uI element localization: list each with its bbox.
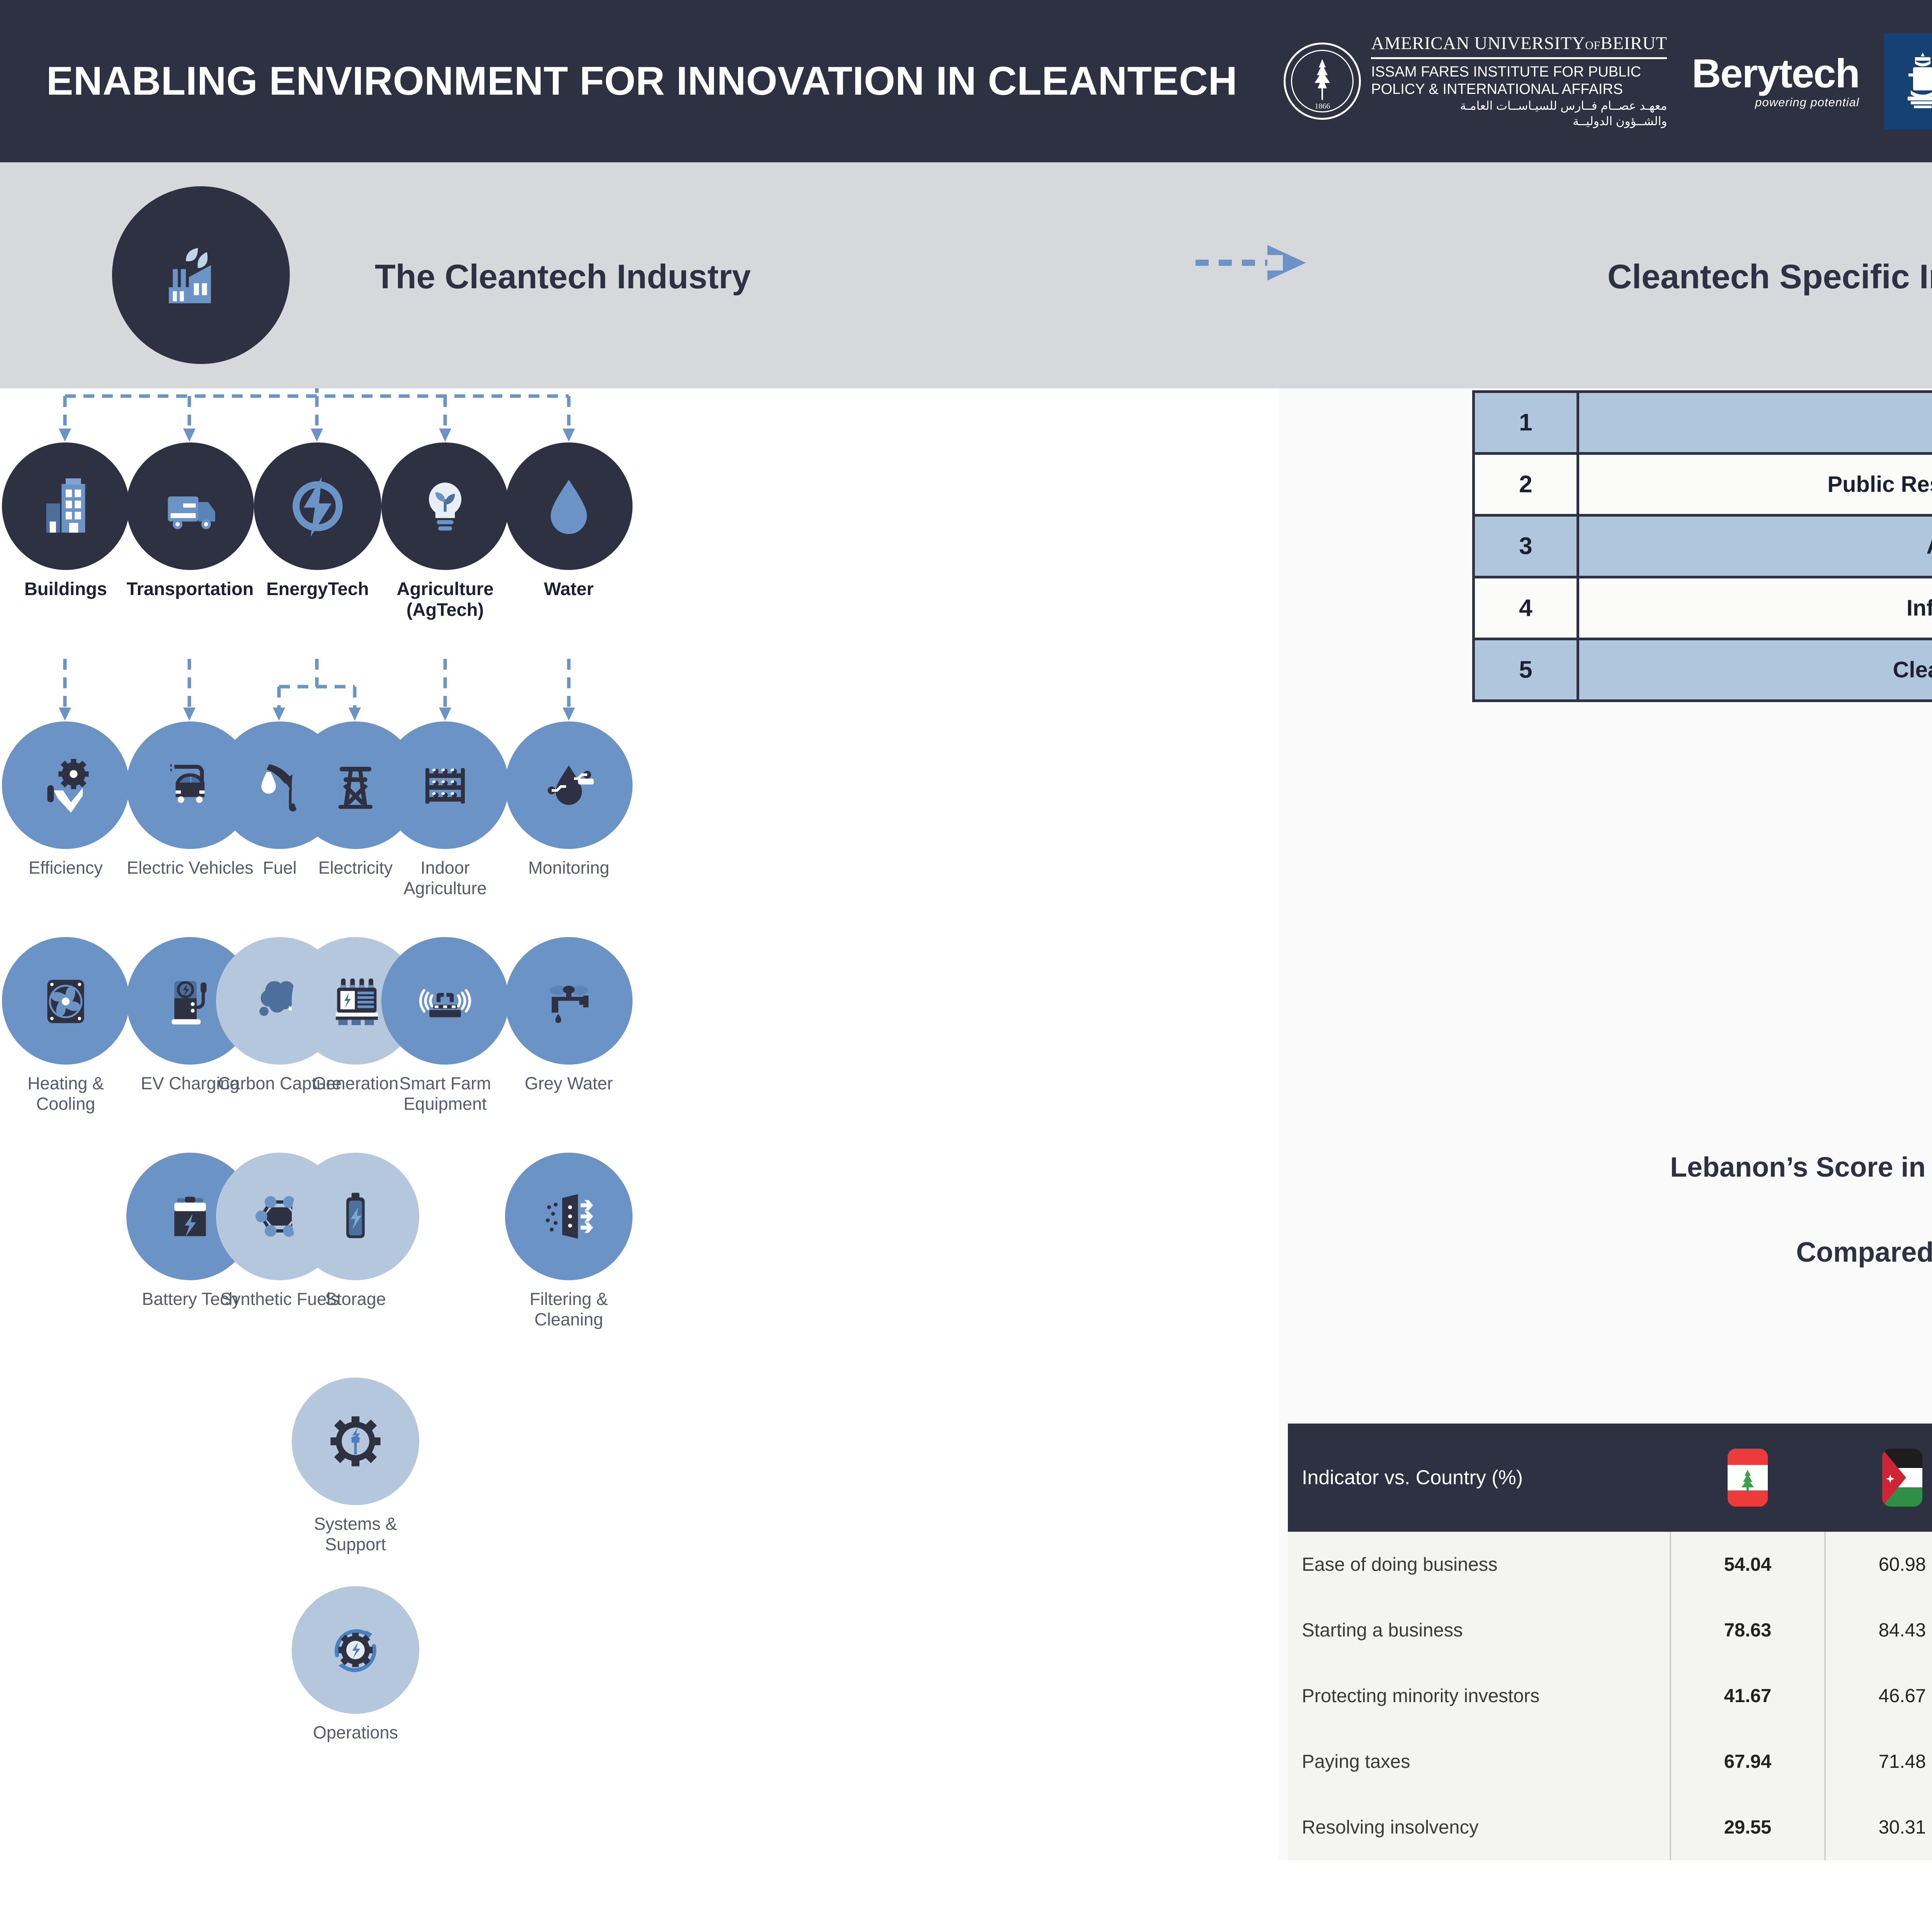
indicator-column-header: Indicator vs. Country (%) [1288, 1424, 1670, 1532]
subitem-heating-cooling[interactable]: Heating & Cooling [0, 937, 131, 1114]
table-row: Starting a business 78.63 84.43 84.11 80… [1288, 1597, 1932, 1663]
aub-name-main: AMERICAN UNIVERSITY [1371, 33, 1585, 53]
filter-icon [505, 1153, 633, 1280]
country-comparison-table-wrap: Indicator vs. Country (%) [1288, 1424, 1932, 1860]
jordan-value: 60.98 [1825, 1532, 1932, 1597]
berytech-tagline: powering potential [1692, 95, 1859, 109]
cleantech-industry-tree: Buildings Transportation EnergyTech [0, 388, 1279, 1917]
category-label: Water [503, 578, 634, 599]
subitem-label: Grey Water [503, 1073, 634, 1094]
subitem-label: Smart Farm Equipment [379, 1073, 511, 1114]
subitem-filtering-cleaning[interactable]: Filtering & Cleaning [503, 1153, 634, 1330]
banner-title-right: Cleantech Specific Innovation Drivers: [1607, 257, 1932, 296]
jordan-flag-header [1825, 1424, 1932, 1532]
indicator-cell: Paying taxes [1288, 1729, 1670, 1795]
jordan-value: 30.31 [1825, 1795, 1932, 1860]
subitem-grey-water[interactable]: Grey Water [503, 937, 634, 1094]
category-label: Agriculture (AgTech) [379, 578, 511, 620]
scores-heading-line1: Lebanon’s Score in Selected Business Ind… [1279, 1152, 1932, 1183]
category-label: Transportation [124, 578, 256, 599]
driver-number: 5 [1474, 639, 1578, 701]
gear-cycle-icon [292, 1586, 419, 1714]
netherlands-crest-block [1884, 33, 1932, 129]
category-transportation[interactable]: Transportation [124, 442, 256, 599]
berytech-logo: Berytech powering potential [1692, 53, 1859, 109]
subitem-efficiency[interactable]: Efficiency [0, 721, 131, 878]
ifi-name-arabic2: والشــؤون الدوليــة [1371, 114, 1667, 129]
lebanon-value: 29.55 [1670, 1795, 1825, 1860]
battery-cell-icon [292, 1153, 419, 1280]
page-footer: Copyright © 2023, Issam Fares Institute … [0, 1860, 1932, 1917]
delivery-truck-icon [126, 442, 254, 570]
driver-number: 4 [1474, 577, 1578, 639]
lebanon-flag-header [1670, 1424, 1825, 1532]
fan-icon [2, 937, 129, 1065]
table-row: Protecting minority investors 41.67 46.6… [1288, 1663, 1932, 1729]
lightbulb-plant-icon [381, 442, 509, 570]
table-row: Resolving insolvency 29.55 30.31 42.27 2… [1288, 1795, 1932, 1860]
category-energytech[interactable]: EnergyTech [252, 442, 383, 599]
header-logo-group: 1866 AMERICAN UNIVERSITYOFBEIRUT ISSAM F… [1284, 33, 1932, 129]
category-water[interactable]: Water [503, 442, 634, 599]
subitem-label: Monitoring [503, 857, 634, 878]
driver-row: 3 Access to Private Finance [1474, 515, 1932, 577]
scores-heading: Lebanon’s Score in Selected Business Ind… [1279, 1152, 1932, 1268]
cleantech-factory-badge [112, 186, 290, 364]
subitem-smart-farm-equipment[interactable]: Smart Farm Equipment [379, 937, 511, 1114]
category-label: EnergyTech [252, 578, 383, 599]
banner-title-left: The Cleantech Industry [375, 257, 751, 296]
subitem-monitoring[interactable]: Monitoring [503, 721, 634, 878]
subitem-indoor-agriculture[interactable]: Indoor Agriculture [379, 721, 511, 898]
driver-row: 2 Public Research and Development Spendi… [1474, 454, 1932, 515]
driver-number: 1 [1474, 392, 1578, 454]
subitem-label: Operations [290, 1722, 421, 1743]
aub-seal-year: 1866 [1286, 102, 1359, 111]
lebanon-value: 41.67 [1670, 1663, 1825, 1729]
driver-row: 4 Infrastructure for Renewables [1474, 577, 1932, 639]
indicator-cell: Resolving insolvency [1288, 1795, 1670, 1860]
cedar-tree-icon [1307, 58, 1338, 101]
subitem-label: Efficiency [0, 857, 131, 878]
smart-sensor-icon [381, 937, 509, 1065]
category-agriculture[interactable]: Agriculture (AgTech) [379, 442, 511, 620]
water-drop-icon [505, 442, 633, 570]
page-header: ENABLING ENVIRONMENT FOR INNOVATION IN C… [0, 0, 1932, 162]
aub-name-city: BEIRUT [1600, 33, 1667, 53]
lebanon-value: 67.94 [1670, 1729, 1825, 1795]
lebanon-flag-icon [1728, 1449, 1768, 1507]
banner-strip: The Cleantech Industry Cleantech Specifi… [0, 162, 1932, 388]
subitem-label: Systems & Support [290, 1514, 421, 1555]
gear-hand-icon [2, 721, 129, 849]
faucet-icon [505, 937, 633, 1065]
aub-ifi-logo: 1866 AMERICAN UNIVERSITYOFBEIRUT ISSAM F… [1284, 33, 1667, 129]
subitem-operations[interactable]: Operations [290, 1586, 421, 1743]
driver-row: 1 Government Policies [1474, 392, 1932, 454]
banner-flow-arrow-icon [1194, 240, 1318, 286]
driver-label: Access to Private Finance [1578, 515, 1932, 577]
indicator-cell: Ease of doing business [1288, 1532, 1670, 1597]
indicator-cell: Protecting minority investors [1288, 1663, 1670, 1729]
gear-wrench-icon [292, 1378, 419, 1505]
subitem-label: Heating & Cooling [0, 1073, 131, 1114]
netherlands-lion-crest-icon [1898, 50, 1932, 112]
subitem-label: Indoor Agriculture [379, 857, 511, 898]
ifi-name-line2: POLICY & INTERNATIONAL AFFAIRS [1371, 81, 1667, 98]
subitem-label: Filtering & Cleaning [503, 1289, 634, 1330]
water-monitor-icon [505, 721, 633, 849]
country-comparison-table: Indicator vs. Country (%) [1288, 1424, 1932, 1860]
driver-number: 2 [1474, 454, 1578, 515]
subitem-storage[interactable]: Storage [290, 1153, 421, 1309]
ifi-name-arabic1: معهـد عصــام فــارس للسيـاســات العامـة [1371, 98, 1667, 114]
subitem-systems-support[interactable]: Systems & Support [290, 1378, 421, 1555]
driver-label: Infrastructure for Renewables [1578, 577, 1932, 639]
jordan-value: 84.43 [1825, 1597, 1932, 1663]
category-label: Buildings [0, 578, 131, 599]
scores-heading-line2: Compared to MENA Countries [1279, 1237, 1932, 1268]
jordan-value: 46.67 [1825, 1663, 1932, 1729]
aub-name-of: OF [1585, 39, 1600, 52]
ifi-name-line1: ISSAM FARES INSTITUTE FOR PUBLIC [1371, 63, 1667, 81]
indicator-cell: Starting a business [1288, 1597, 1670, 1663]
category-buildings[interactable]: Buildings [0, 442, 131, 599]
energy-bolt-icon [254, 442, 381, 570]
office-building-icon [2, 442, 129, 570]
eco-factory-icon [151, 225, 251, 325]
driver-label: Public Research and Development Spending [1578, 454, 1932, 515]
vertical-farm-icon [381, 721, 509, 849]
table-row: Ease of doing business 54.04 60.98 58.56… [1288, 1532, 1932, 1597]
table-row: Paying taxes 67.94 71.48 52.73 73.97 75.… [1288, 1729, 1932, 1795]
berytech-wordmark: Berytech [1692, 53, 1859, 94]
aub-seal-icon: 1866 [1284, 43, 1361, 120]
driver-row: 5 Cleantech Industry Organization [1474, 639, 1932, 701]
driver-label: Government Policies [1578, 392, 1932, 454]
table-header-row: Indicator vs. Country (%) [1288, 1424, 1932, 1532]
lebanon-value: 78.63 [1670, 1597, 1825, 1663]
aub-name: AMERICAN UNIVERSITYOFBEIRUT [1371, 33, 1667, 54]
driver-number: 3 [1474, 515, 1578, 577]
aub-divider [1371, 57, 1667, 59]
jordan-flag-icon [1882, 1449, 1922, 1507]
lebanon-value: 54.04 [1670, 1532, 1825, 1597]
page-title: ENABLING ENVIRONMENT FOR INNOVATION IN C… [46, 58, 1237, 104]
jordan-value: 71.48 [1825, 1729, 1932, 1795]
innovation-drivers-table: 1 Government Policies 2 Public Research … [1472, 390, 1932, 702]
netherlands-logo: Kingdom of the Netherlands [1884, 33, 1932, 129]
subitem-label: Storage [290, 1289, 421, 1309]
driver-label: Cleantech Industry Organization [1578, 639, 1932, 701]
